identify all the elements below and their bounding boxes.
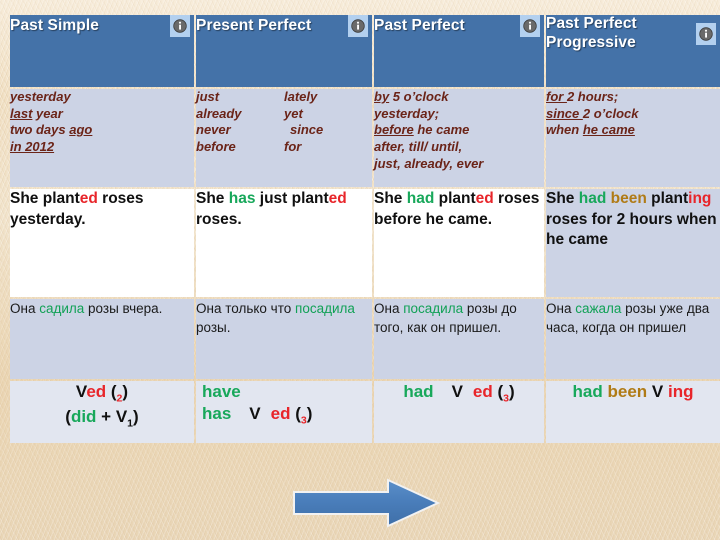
markers-list-past-perfect: by 5 o’clock yesterday; before he came a… <box>374 89 544 172</box>
translation-cell-past-perfect-progressive: Она сажала розы уже два часа, когда он п… <box>546 299 720 379</box>
marker-item: after, till/ until, <box>374 139 544 156</box>
formula-line: Ved (2) <box>10 381 194 406</box>
markers-cell-past-perfect: by 5 o’clock yesterday; before he came a… <box>374 89 544 187</box>
table-translations-row: Она садила розы вчера. Она только что по… <box>10 299 720 379</box>
header-title-past-simple: Past Simple <box>10 17 99 36</box>
formula-cell-past-perfect-progressive: had been V ing <box>546 381 720 443</box>
example-sentence-past-simple: She planted roses yesterday. <box>10 189 194 230</box>
tense-comparison-table: Past Simple Present Perfect <box>8 13 720 445</box>
info-icon[interactable] <box>170 15 190 37</box>
example-cell-past-perfect: She had planted roses before he came. <box>374 189 544 297</box>
example-cell-past-perfect-progressive: She had been planting roses for 2 hours … <box>546 189 720 297</box>
marker-item: just <box>196 89 284 106</box>
example-cell-past-simple: She planted roses yesterday. <box>10 189 194 297</box>
marker-item: when he came <box>546 122 720 139</box>
markers-list-past-perfect-progressive: for 2 hours; since 2 o’clock when he cam… <box>546 89 720 139</box>
translation-past-perfect-progressive: Она сажала розы уже два часа, когда он п… <box>546 299 720 337</box>
markers-column-b: lately yet since for <box>284 89 372 156</box>
markers-cell-past-perfect-progressive: for 2 hours; since 2 o’clock when he cam… <box>546 89 720 187</box>
marker-item: by 5 o’clock <box>374 89 544 106</box>
header-cell-past-perfect[interactable]: Past Perfect <box>374 15 544 87</box>
formula-cell-present-perfect: have hasVed (3) <box>196 381 372 443</box>
header-cell-past-perfect-progressive[interactable]: Past Perfect Progressive <box>546 15 720 87</box>
markers-column-a: just already never before <box>196 89 284 156</box>
table-formulas-row: Ved (2) (did + V1) have hasVed (3) <box>10 381 720 443</box>
formula-present-perfect: have hasVed (3) <box>196 381 372 428</box>
translation-cell-past-perfect: Она посадила розы до того, как он пришел… <box>374 299 544 379</box>
marker-item: for 2 hours; <box>546 89 720 106</box>
example-sentence-past-perfect-progressive: She had been planting roses for 2 hours … <box>546 189 720 251</box>
marker-item: last year <box>10 106 194 123</box>
header-cell-past-simple[interactable]: Past Simple <box>10 15 194 87</box>
marker-item: since 2 o’clock <box>546 106 720 123</box>
example-sentence-present-perfect: She has just planted roses. <box>196 189 372 230</box>
markers-list-present-perfect: just already never before lately yet sin… <box>196 89 372 156</box>
formula-past-simple: Ved (2) (did + V1) <box>10 381 194 431</box>
marker-item: yet <box>284 106 372 123</box>
translation-past-simple: Она садила розы вчера. <box>10 299 194 318</box>
markers-cell-present-perfect: just already never before lately yet sin… <box>196 89 372 187</box>
timeline-arrow <box>292 478 440 528</box>
marker-item: in 2012 <box>10 139 194 156</box>
table-header-row: Past Simple Present Perfect <box>10 15 720 87</box>
marker-item: since <box>284 122 372 139</box>
marker-item: never <box>196 122 284 139</box>
marker-item: for <box>284 139 372 156</box>
info-icon[interactable] <box>348 15 368 37</box>
info-icon[interactable] <box>520 15 540 37</box>
header-cell-present-perfect[interactable]: Present Perfect <box>196 15 372 87</box>
formula-line: hasVed (3) <box>202 403 372 428</box>
formula-past-perfect: hadVed (3) <box>374 381 544 406</box>
marker-item: yesterday <box>10 89 194 106</box>
header-title-past-perfect: Past Perfect <box>374 17 465 36</box>
translation-cell-past-simple: Она садила розы вчера. <box>10 299 194 379</box>
translation-cell-present-perfect: Она только что посадила розы. <box>196 299 372 379</box>
translation-present-perfect: Она только что посадила розы. <box>196 299 372 337</box>
table-examples-row: She planted roses yesterday. She has jus… <box>10 189 720 297</box>
table-markers-row: yesterday last year two days ago in 2012… <box>10 89 720 187</box>
info-icon[interactable] <box>696 23 716 45</box>
formula-line: have <box>202 381 372 403</box>
header-title-present-perfect: Present Perfect <box>196 17 311 36</box>
header-title-past-perfect-progressive: Past Perfect Progressive <box>546 15 690 52</box>
formula-cell-past-simple: Ved (2) (did + V1) <box>10 381 194 443</box>
arrow-shape <box>294 480 438 526</box>
marker-item: before he came <box>374 122 544 139</box>
marker-item: already <box>196 106 284 123</box>
marker-item: just, already, ever <box>374 156 544 173</box>
formula-line: (did + V1) <box>10 406 194 431</box>
marker-item: yesterday; <box>374 106 544 123</box>
formula-cell-past-perfect: hadVed (3) <box>374 381 544 443</box>
formula-past-perfect-progressive: had been V ing <box>546 381 720 403</box>
markers-list-past-simple: yesterday last year two days ago in 2012 <box>10 89 194 156</box>
marker-item: before <box>196 139 284 156</box>
example-cell-present-perfect: She has just planted roses. <box>196 189 372 297</box>
example-sentence-past-perfect: She had planted roses before he came. <box>374 189 544 230</box>
markers-cell-past-simple: yesterday last year two days ago in 2012 <box>10 89 194 187</box>
marker-item: two days ago <box>10 122 194 139</box>
translation-past-perfect: Она посадила розы до того, как он пришел… <box>374 299 544 337</box>
marker-item: lately <box>284 89 372 106</box>
slide-canvas: Past Simple Present Perfect <box>0 0 720 540</box>
